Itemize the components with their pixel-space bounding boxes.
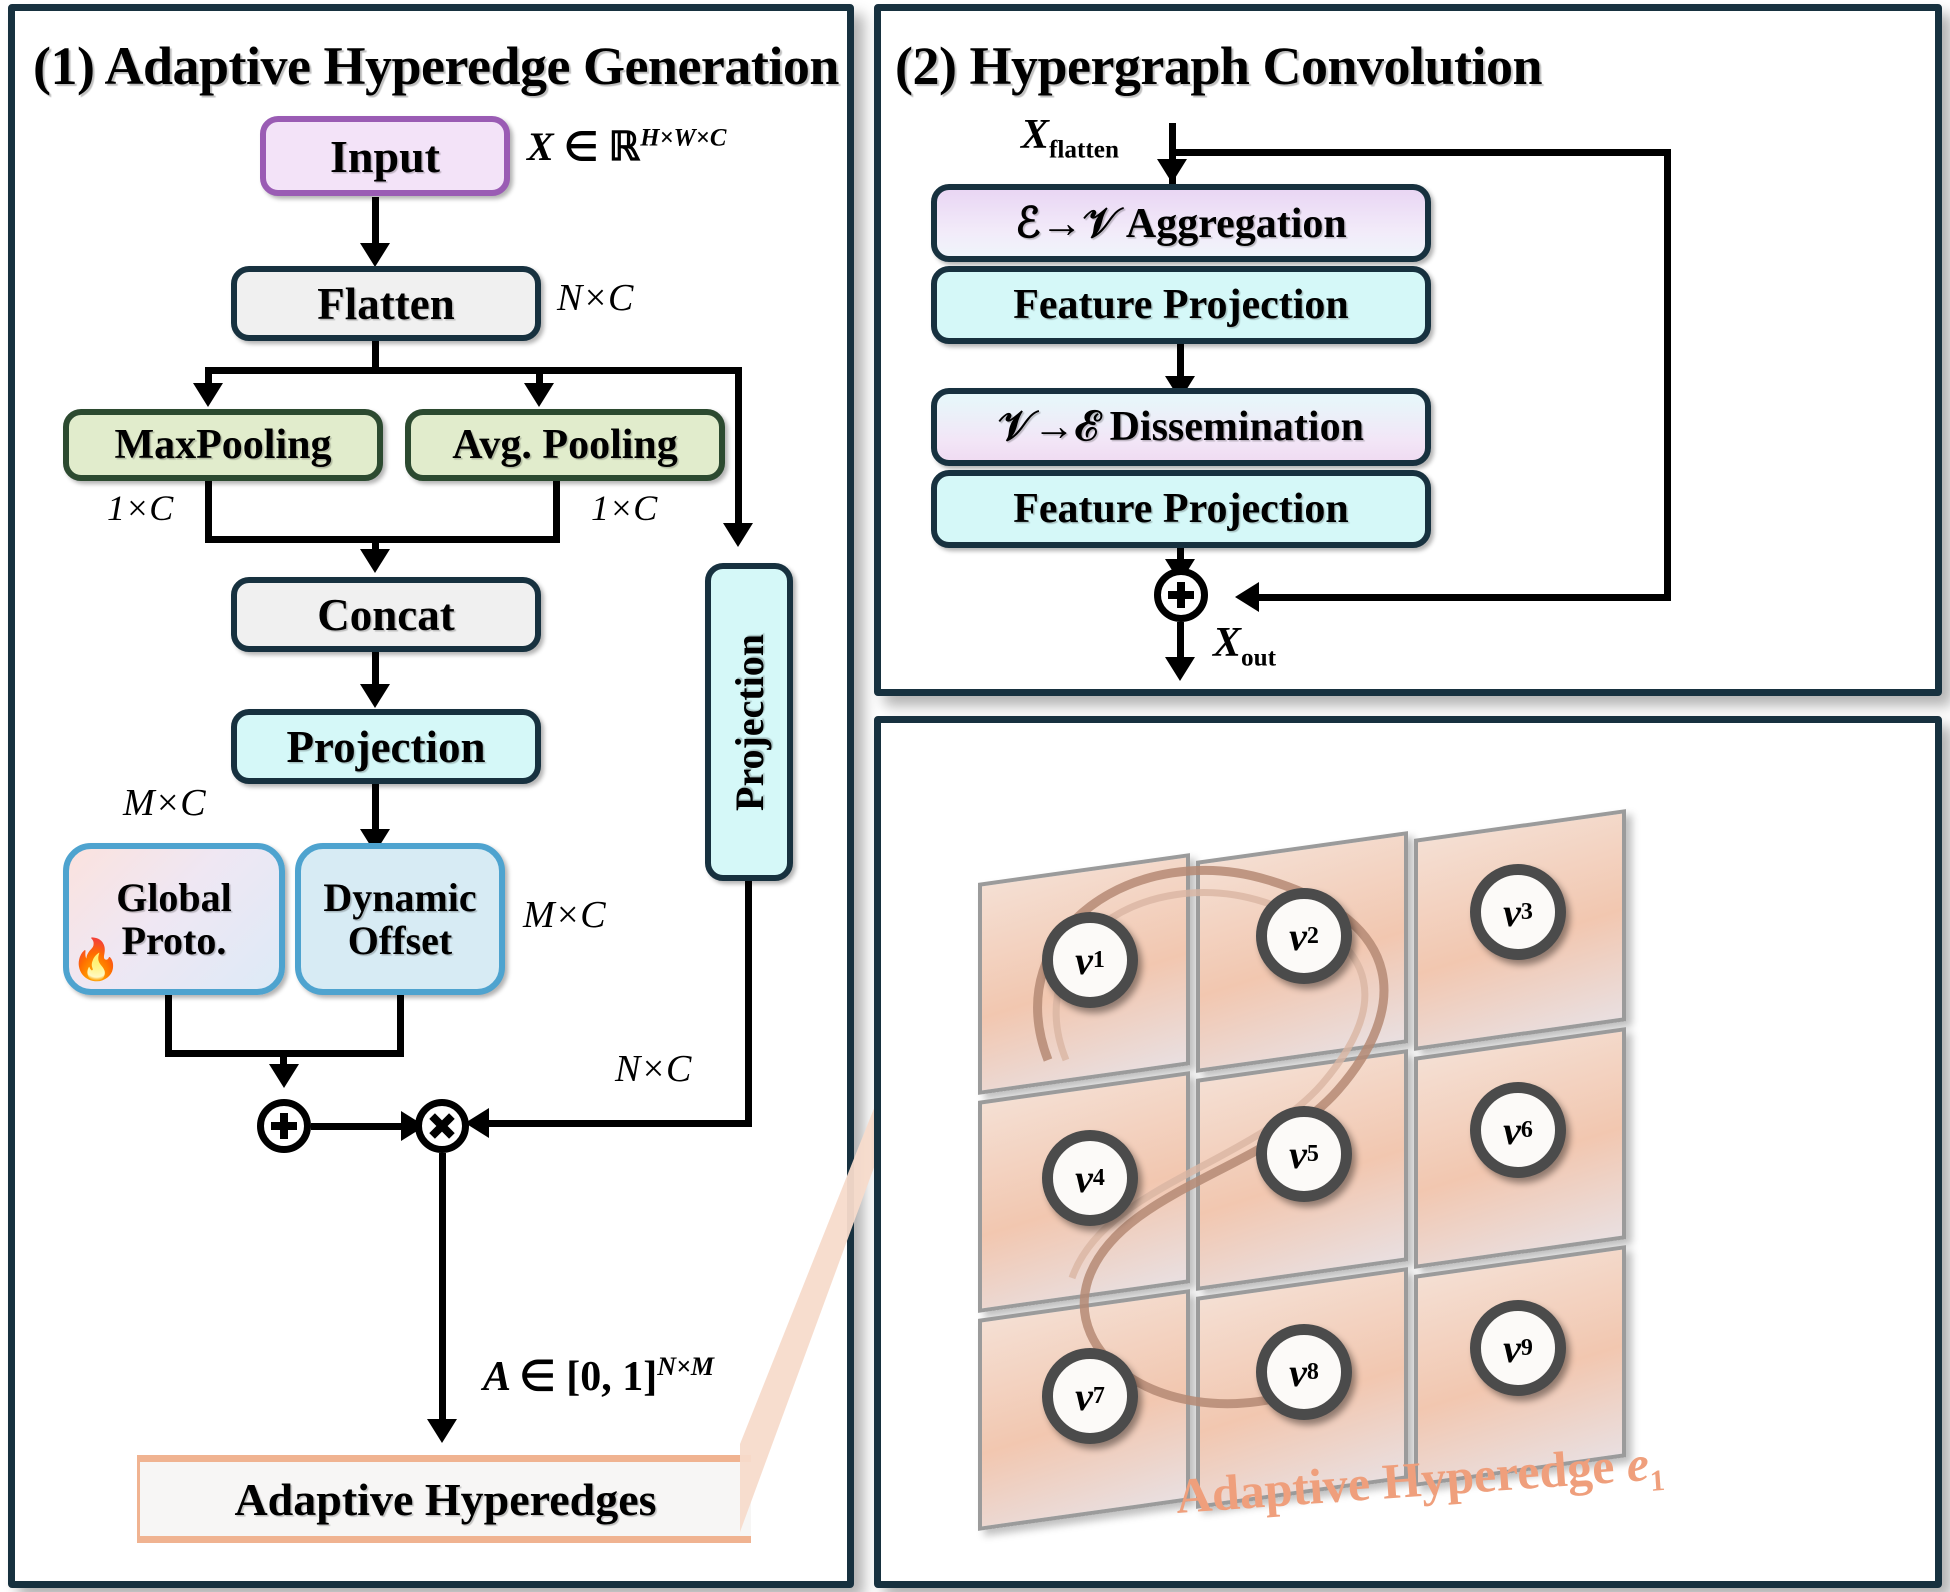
proto-shape-label: M×C [123, 781, 206, 825]
concat-box: Concat [231, 577, 541, 652]
aggregation-block: ℰ→𝒱 Aggregation [931, 184, 1431, 262]
attention-matrix-math: A ∈ [0, 1]N×M [483, 1351, 714, 1401]
branch-right-drop [735, 367, 742, 529]
side-projection-to-times-line [477, 1120, 752, 1127]
offset-out-line [397, 995, 404, 1057]
dynamic-offset-line1: Dynamic [323, 876, 476, 919]
multiply-operator [415, 1099, 469, 1153]
node-v3: v3 [1470, 864, 1566, 960]
side-projection-label: Projection [726, 634, 773, 811]
panel-adaptive-hyperedge-generation: (1) Adaptive Hyperedge Generation Input … [8, 4, 854, 1588]
global-prototype-line1: Global [116, 876, 232, 919]
maxpool-shape-label: 1×C [107, 487, 173, 529]
feature-projection-label-1: Feature Projection [1013, 281, 1349, 329]
avgpool-shape-label: 1×C [591, 487, 657, 529]
flatten-box-label: Flatten [317, 278, 454, 330]
pooling-merge-bus [205, 536, 560, 543]
arrowhead-to-maxpool [193, 383, 223, 407]
hyperedge-illustration: v1 v2 v3 v4 v5 v6 v7 v8 v9 Adaptive Hype… [938, 760, 1882, 1540]
side-projection-box: Projection [705, 563, 793, 881]
side-projection-shape-label: N×C [615, 1047, 691, 1091]
arrowhead-to-side-projection [723, 523, 753, 547]
residual-add-operator [1154, 568, 1208, 622]
panel1-title: (1) Adaptive Hyperedge Generation [33, 35, 839, 97]
maxpooling-box-label: MaxPooling [115, 421, 332, 469]
node-v9: v9 [1470, 1300, 1566, 1396]
arrowhead-side-to-times [465, 1108, 489, 1138]
arrowhead-entry [1157, 159, 1187, 183]
input-box: Input [260, 116, 510, 196]
adaptive-hyperedges-bar: Adaptive Hyperedges [137, 1455, 751, 1543]
dynamic-offset-shape-label: M×C [523, 893, 606, 937]
aggregation-label: ℰ→𝒱 Aggregation [1015, 198, 1346, 248]
node-v8: v8 [1256, 1324, 1352, 1420]
node-v2: v2 [1256, 888, 1352, 984]
times-to-hyperedges-line [439, 1153, 446, 1425]
panel2-title: (2) Hypergraph Convolution [895, 35, 1542, 97]
skip-right-line [1664, 149, 1671, 597]
avgpooling-box: Avg. Pooling [405, 409, 725, 481]
plus-to-times-line [311, 1123, 407, 1130]
input-box-label: Input [330, 130, 440, 183]
node-v7: v7 [1042, 1348, 1138, 1444]
node-v6: v6 [1470, 1082, 1566, 1178]
arrowhead-to-projection [360, 684, 390, 708]
arrowhead-input-to-flatten [360, 243, 390, 267]
flatten-box: Flatten [231, 266, 541, 341]
dissemination-block: 𝒱→ℰ Dissemination [931, 388, 1431, 466]
add-operator [257, 1099, 311, 1153]
input-shape-math: X ∈ ℝH×W×C [527, 123, 726, 170]
dynamic-offset-box: Dynamic Offset [295, 843, 505, 995]
avgpooling-box-label: Avg. Pooling [452, 421, 678, 469]
panel-hypergraph-convolution: (2) Hypergraph Convolution Xflatten ℰ→𝒱 … [874, 4, 1942, 696]
x-flatten-label: Xflatten [1021, 111, 1119, 164]
arrowhead-output [1165, 657, 1195, 681]
adaptive-hyperedges-label: Adaptive Hyperedges [234, 1473, 656, 1526]
node-v1: v1 [1042, 912, 1138, 1008]
global-prototype-line2: Proto. [122, 919, 227, 962]
figure-root: (1) Adaptive Hyperedge Generation Input … [0, 0, 1950, 1592]
avgpool-out-line [553, 481, 560, 543]
flatten-shape-label: N×C [557, 276, 633, 320]
arrowhead-to-avgpool [524, 383, 554, 407]
maxpool-out-line [205, 481, 212, 543]
fire-icon: 🔥 [71, 936, 121, 983]
arrowhead-to-hyperedges [427, 1419, 457, 1443]
arrowhead-to-concat [360, 549, 390, 573]
arrow-input-to-flatten [372, 197, 379, 249]
maxpooling-box: MaxPooling [63, 409, 383, 481]
flatten-split-bus [205, 367, 742, 374]
dynamic-offset-line2: Offset [348, 919, 452, 962]
concat-box-label: Concat [317, 589, 454, 641]
arrowhead-to-plus-op [269, 1064, 299, 1088]
skip-top-line [1171, 149, 1671, 156]
x-out-label: Xout [1213, 619, 1276, 672]
feature-projection-block-1: Feature Projection [931, 266, 1431, 344]
projection-box: Projection [231, 709, 541, 784]
feature-projection-label-2: Feature Projection [1013, 485, 1349, 533]
arrowhead-skip-into-add [1235, 582, 1259, 612]
skip-bottom-line [1247, 594, 1671, 601]
projection-box-label: Projection [286, 721, 485, 773]
node-v5: v5 [1256, 1106, 1352, 1202]
feature-projection-block-2: Feature Projection [931, 470, 1431, 548]
dissemination-label: 𝒱→ℰ Dissemination [998, 403, 1364, 451]
node-v4: v4 [1042, 1130, 1138, 1226]
proto-out-line [165, 995, 172, 1057]
